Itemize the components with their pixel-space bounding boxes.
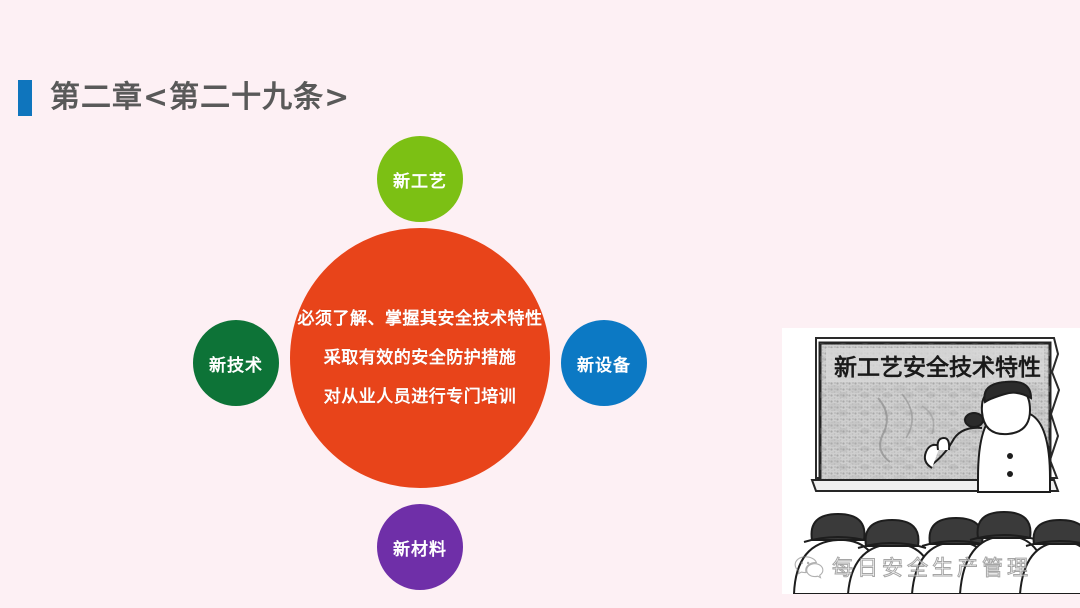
node-new-craft-label: 新工艺 (393, 167, 447, 192)
core-line-1: 必须了解、掌握其安全技术特性 (298, 311, 543, 328)
title-text: 第二章<第二十九条> (50, 83, 350, 113)
node-new-craft[interactable]: 新工艺 (372, 131, 468, 227)
watermark: 每日安全生产管理 (794, 552, 1032, 582)
wechat-icon (794, 555, 824, 579)
node-new-material-label: 新材料 (393, 535, 447, 560)
node-new-material[interactable]: 新材料 (372, 499, 468, 595)
node-new-technology[interactable]: 新技术 (188, 315, 284, 411)
node-new-equipment[interactable]: 新设备 (556, 315, 652, 411)
node-new-equipment-label: 新设备 (577, 351, 631, 376)
illustration-panel: 新工艺安全技术特性 (782, 328, 1080, 594)
hub-spoke-diagram: 新工艺 新技术 新设备 新材料 必须了解、掌握其安全技术特性 采取有效的安全防护… (180, 125, 660, 585)
node-new-technology-label: 新技术 (209, 351, 263, 376)
page-title: 第二章<第二十九条> (18, 80, 350, 116)
core-line-3: 对从业人员进行专门培训 (324, 389, 517, 406)
core-line-2: 采取有效的安全防护措施 (324, 350, 517, 367)
title-accent-bar (18, 80, 32, 116)
watermark-text: 每日安全生产管理 (832, 552, 1032, 582)
node-core-requirements[interactable]: 必须了解、掌握其安全技术特性 采取有效的安全防护措施 对从业人员进行专门培训 (284, 222, 556, 494)
chalkboard-caption: 新工艺安全技术特性 (834, 354, 1041, 381)
slide-canvas: 第二章<第二十九条> 新工艺 新技术 新设备 新材料 必须了解、掌握其安全技术特… (0, 0, 1080, 608)
